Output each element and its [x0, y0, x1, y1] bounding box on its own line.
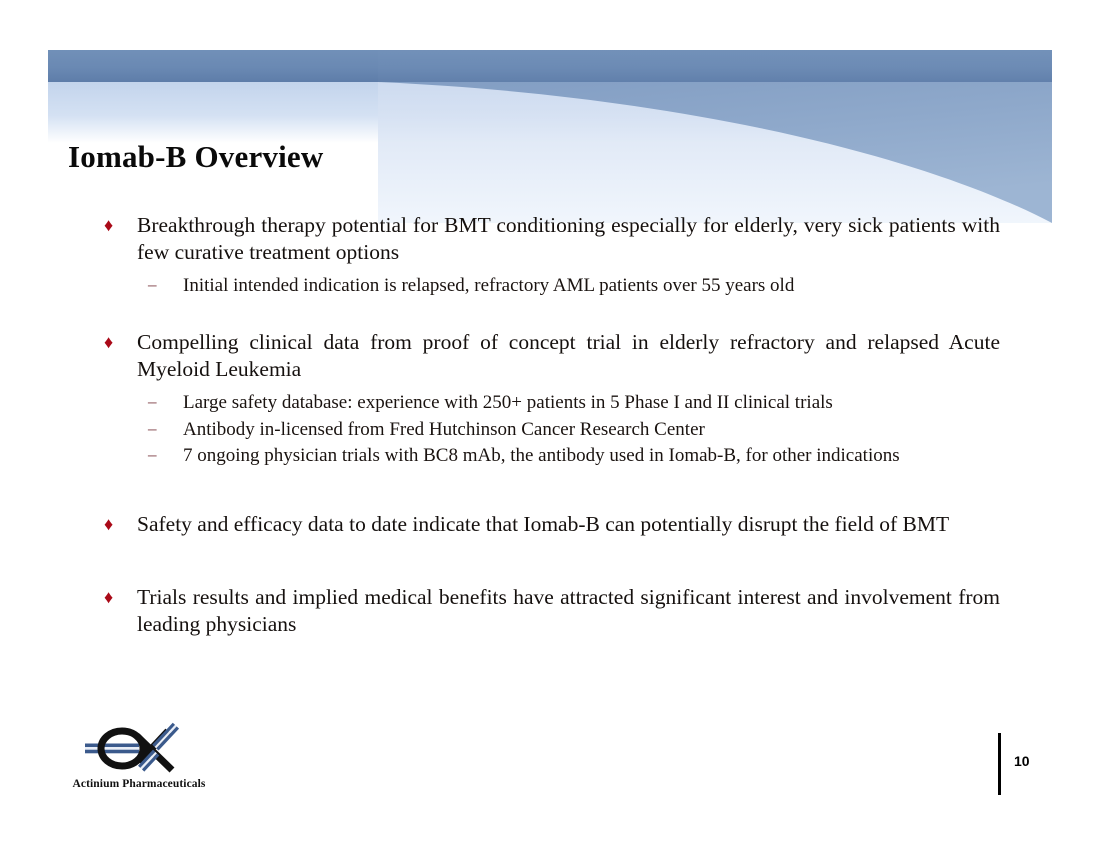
bullet-level1-text: Breakthrough therapy potential for BMT c… — [137, 212, 1000, 266]
slide-body-content: ♦ Breakthrough therapy potential for BMT… — [100, 212, 1000, 638]
bullet-level2: – Large safety database: experience with… — [100, 391, 1000, 416]
header-banner-graphic — [48, 50, 1052, 223]
bullet-group: ♦ Breakthrough therapy potential for BMT… — [100, 212, 1000, 299]
slide-header-banner: Iomab-B Overview — [48, 50, 1052, 223]
dash-bullet-icon: – — [148, 418, 157, 440]
company-logo: Actinium Pharmaceuticals — [49, 722, 229, 802]
bullet-level2: – Antibody in-licensed from Fred Hutchin… — [100, 418, 1000, 443]
bullet-level1: ♦ Breakthrough therapy potential for BMT… — [100, 212, 1000, 266]
bullet-level1-text: Trials results and implied medical benef… — [137, 584, 1000, 638]
sub-bullet-list: – Initial intended indication is relapse… — [100, 274, 1000, 299]
dash-bullet-icon: – — [148, 274, 157, 296]
diamond-bullet-icon: ♦ — [104, 213, 113, 237]
logo-caption: Actinium Pharmaceuticals — [49, 778, 229, 790]
bullet-level1-text: Compelling clinical data from proof of c… — [137, 329, 1000, 383]
bullet-level2-text: Antibody in-licensed from Fred Hutchinso… — [183, 418, 1000, 443]
bullet-group: ♦ Compelling clinical data from proof of… — [100, 329, 1000, 469]
dash-bullet-icon: – — [148, 391, 157, 413]
slide-canvas: Iomab-B Overview ♦ Breakthrough therapy … — [0, 0, 1100, 850]
bullet-level1: ♦ Compelling clinical data from proof of… — [100, 329, 1000, 383]
page-title: Iomab-B Overview — [68, 139, 323, 175]
sub-bullet-list: – Large safety database: experience with… — [100, 391, 1000, 469]
diamond-bullet-icon: ♦ — [104, 330, 113, 354]
bullet-level2: – Initial intended indication is relapse… — [100, 274, 1000, 299]
page-number-rule — [998, 733, 1001, 795]
bullet-level2: – 7 ongoing physician trials with BC8 mA… — [100, 444, 1000, 469]
actinium-atom-logo-icon — [82, 722, 192, 777]
bullet-level1: ♦ Trials results and implied medical ben… — [100, 584, 1000, 638]
bullet-level2-text: 7 ongoing physician trials with BC8 mAb,… — [183, 444, 1000, 469]
dash-bullet-icon: – — [148, 444, 157, 466]
diamond-bullet-icon: ♦ — [104, 585, 113, 609]
bullet-level2-text: Initial intended indication is relapsed,… — [183, 274, 1000, 299]
bullet-group: ♦ Trials results and implied medical ben… — [100, 584, 1000, 638]
bullet-level1: ♦ Safety and efficacy data to date indic… — [100, 511, 1000, 538]
bullet-level1-text: Safety and efficacy data to date indicat… — [137, 511, 1000, 538]
diamond-bullet-icon: ♦ — [104, 512, 113, 536]
page-number: 10 — [1014, 753, 1030, 769]
bullet-group: ♦ Safety and efficacy data to date indic… — [100, 511, 1000, 538]
bullet-level2-text: Large safety database: experience with 2… — [183, 391, 1000, 416]
